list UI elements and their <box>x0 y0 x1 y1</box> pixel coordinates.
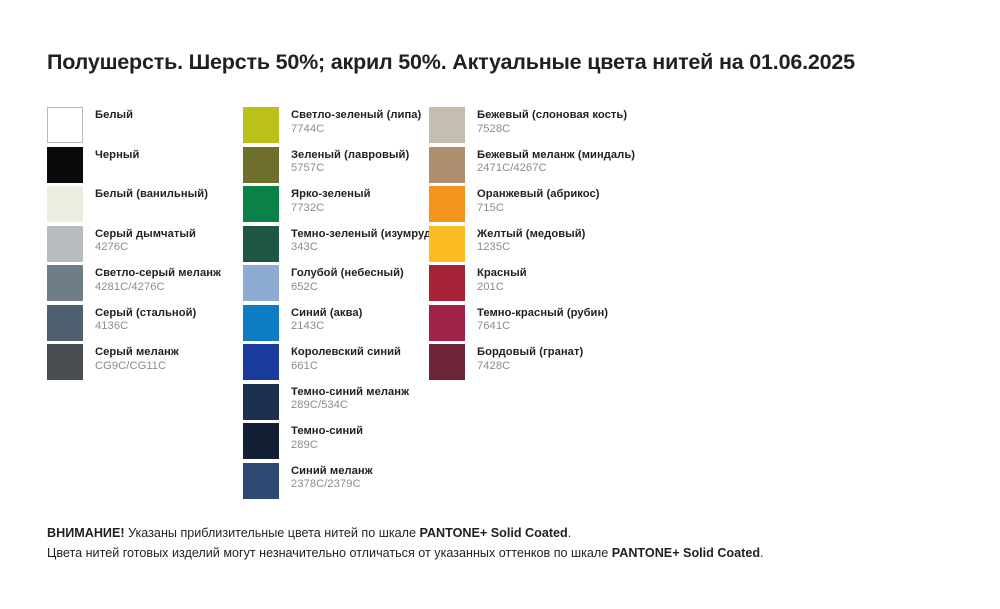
swatch-text: Синий (аква)2143C <box>291 305 362 334</box>
swatch-pantone-code: 4276C <box>95 241 196 255</box>
color-swatch <box>47 265 83 301</box>
swatch-text: Серый (стальной)4136C <box>95 305 196 334</box>
swatch-pantone-code: 4136C <box>95 320 196 334</box>
color-swatch <box>243 423 279 459</box>
footer-brand-1: PANTONE+ Solid Coated <box>419 526 567 540</box>
swatch-text: Бордовый (гранат)7428C <box>477 344 583 373</box>
swatch-name: Темно-зеленый (изумруд) <box>291 228 435 242</box>
swatch-name: Темно-красный (рубин) <box>477 307 608 321</box>
swatch-text: Синий меланж2378C/2379C <box>291 463 373 492</box>
swatch-text: Желтый (медовый)1235C <box>477 226 585 255</box>
swatch-row: Оранжевый (абрикос)715C <box>429 186 729 226</box>
swatch-name: Светло-зеленый (липа) <box>291 109 421 123</box>
swatch-pantone-code: 289C/534C <box>291 399 409 413</box>
footer-line-1: ВНИМАНИЕ! Указаны приблизительные цвета … <box>47 524 764 544</box>
swatch-text: Темно-синий меланж289C/534C <box>291 384 409 413</box>
swatch-column-1: БелыйЧерныйБелый (ванильный)Серый дымчат… <box>47 107 243 384</box>
swatch-text: Ярко-зеленый7732C <box>291 186 371 215</box>
swatch-pantone-code: 652C <box>291 281 404 295</box>
swatch-name: Бордовый (гранат) <box>477 346 583 360</box>
swatch-text: Серый дымчатый4276C <box>95 226 196 255</box>
swatch-pantone-code: 2143C <box>291 320 362 334</box>
color-swatch <box>243 147 279 183</box>
footer-line-2-text: Цвета нитей готовых изделий могут незнач… <box>47 546 612 560</box>
swatch-row: Зеленый (лавровый)5757C <box>243 147 429 187</box>
swatch-name: Красный <box>477 267 527 281</box>
swatch-pantone-code: 7428C <box>477 360 583 374</box>
swatch-pantone-code: 7732C <box>291 202 371 216</box>
swatch-text: Белый <box>95 107 133 123</box>
color-swatch <box>429 344 465 380</box>
color-chart-page: Полушерсть. Шерсть 50%; акрил 50%. Актуа… <box>0 0 1000 609</box>
page-title: Полушерсть. Шерсть 50%; акрил 50%. Актуа… <box>47 50 855 75</box>
swatch-name: Королевский синий <box>291 346 401 360</box>
swatch-name: Оранжевый (абрикос) <box>477 188 600 202</box>
swatch-name: Зеленый (лавровый) <box>291 149 409 163</box>
swatch-pantone-code: 715C <box>477 202 600 216</box>
swatch-text: Голубой (небесный)652C <box>291 265 404 294</box>
color-swatch <box>243 384 279 420</box>
swatch-pantone-code: CG9C/CG11C <box>95 360 179 374</box>
swatch-columns: БелыйЧерныйБелый (ванильный)Серый дымчат… <box>47 107 957 502</box>
swatch-name: Бежевый меланж (миндаль) <box>477 149 635 163</box>
swatch-text: Белый (ванильный) <box>95 186 208 202</box>
color-swatch <box>243 186 279 222</box>
swatch-name: Белый <box>95 109 133 123</box>
color-swatch <box>243 265 279 301</box>
swatch-row: Серый дымчатый4276C <box>47 226 243 266</box>
color-swatch <box>243 107 279 143</box>
swatch-row: Ярко-зеленый7732C <box>243 186 429 226</box>
swatch-name: Темно-синий меланж <box>291 386 409 400</box>
swatch-name: Темно-синий <box>291 425 363 439</box>
color-swatch <box>47 344 83 380</box>
swatch-row: Бежевый меланж (миндаль)2471C/4267C <box>429 147 729 187</box>
color-swatch <box>429 107 465 143</box>
color-swatch <box>243 305 279 341</box>
color-swatch <box>243 344 279 380</box>
swatch-pantone-code: 7641C <box>477 320 608 334</box>
color-swatch <box>47 186 83 222</box>
footer-line-1-text: Указаны приблизительные цвета нитей по ш… <box>125 526 420 540</box>
swatch-pantone-code: 661C <box>291 360 401 374</box>
swatch-row: Темно-зеленый (изумруд)343C <box>243 226 429 266</box>
swatch-pantone-code: 2378C/2379C <box>291 478 373 492</box>
swatch-text: Черный <box>95 147 139 163</box>
color-swatch <box>243 226 279 262</box>
swatch-text: Бежевый меланж (миндаль)2471C/4267C <box>477 147 635 176</box>
swatch-pantone-code: 201C <box>477 281 527 295</box>
color-swatch <box>47 147 83 183</box>
color-swatch <box>429 305 465 341</box>
swatch-row: Черный <box>47 147 243 187</box>
swatch-row: Желтый (медовый)1235C <box>429 226 729 266</box>
swatch-text: Оранжевый (абрикос)715C <box>477 186 600 215</box>
color-swatch <box>47 226 83 262</box>
swatch-text: Королевский синий661C <box>291 344 401 373</box>
footer-brand-2: PANTONE+ Solid Coated <box>612 546 760 560</box>
color-swatch <box>429 147 465 183</box>
swatch-row: Темно-красный (рубин)7641C <box>429 305 729 345</box>
swatch-column-2: Светло-зеленый (липа)7744CЗеленый (лавро… <box>243 107 429 502</box>
color-swatch <box>47 107 83 143</box>
swatch-text: Темно-красный (рубин)7641C <box>477 305 608 334</box>
swatch-pantone-code: 343C <box>291 241 435 255</box>
footer-line-1-end: . <box>568 526 572 540</box>
swatch-name: Черный <box>95 149 139 163</box>
swatch-name: Белый (ванильный) <box>95 188 208 202</box>
swatch-row: Синий (аква)2143C <box>243 305 429 345</box>
swatch-text: Светло-зеленый (липа)7744C <box>291 107 421 136</box>
swatch-pantone-code: 2471C/4267C <box>477 162 635 176</box>
swatch-text: Зеленый (лавровый)5757C <box>291 147 409 176</box>
swatch-row: Серый меланжCG9C/CG11C <box>47 344 243 384</box>
swatch-name: Ярко-зеленый <box>291 188 371 202</box>
swatch-row: Королевский синий661C <box>243 344 429 384</box>
swatch-row: Белый <box>47 107 243 147</box>
swatch-name: Голубой (небесный) <box>291 267 404 281</box>
color-swatch <box>429 226 465 262</box>
swatch-name: Синий (аква) <box>291 307 362 321</box>
swatch-row: Серый (стальной)4136C <box>47 305 243 345</box>
swatch-text: Серый меланжCG9C/CG11C <box>95 344 179 373</box>
footer-attention-label: ВНИМАНИЕ! <box>47 526 125 540</box>
swatch-name: Светло-серый меланж <box>95 267 221 281</box>
swatch-pantone-code: 289C <box>291 439 363 453</box>
swatch-text: Темно-зеленый (изумруд)343C <box>291 226 435 255</box>
swatch-name: Серый дымчатый <box>95 228 196 242</box>
color-swatch <box>243 463 279 499</box>
swatch-row: Светло-серый меланж4281C/4276C <box>47 265 243 305</box>
swatch-row: Светло-зеленый (липа)7744C <box>243 107 429 147</box>
footer-line-2: Цвета нитей готовых изделий могут незнач… <box>47 544 764 564</box>
footer-note: ВНИМАНИЕ! Указаны приблизительные цвета … <box>47 524 764 563</box>
swatch-text: Бежевый (слоновая кость)7528C <box>477 107 627 136</box>
swatch-pantone-code: 5757C <box>291 162 409 176</box>
swatch-row: Бордовый (гранат)7428C <box>429 344 729 384</box>
swatch-row: Голубой (небесный)652C <box>243 265 429 305</box>
swatch-name: Серый меланж <box>95 346 179 360</box>
swatch-pantone-code: 7744C <box>291 123 421 137</box>
swatch-name: Желтый (медовый) <box>477 228 585 242</box>
swatch-text: Темно-синий289C <box>291 423 363 452</box>
swatch-row: Темно-синий меланж289C/534C <box>243 384 429 424</box>
swatch-row: Бежевый (слоновая кость)7528C <box>429 107 729 147</box>
swatch-pantone-code: 7528C <box>477 123 627 137</box>
swatch-text: Красный201C <box>477 265 527 294</box>
swatch-row: Белый (ванильный) <box>47 186 243 226</box>
footer-line-2-end: . <box>760 546 764 560</box>
swatch-column-3: Бежевый (слоновая кость)7528CБежевый мел… <box>429 107 729 384</box>
swatch-row: Темно-синий289C <box>243 423 429 463</box>
swatch-row: Синий меланж2378C/2379C <box>243 463 429 503</box>
color-swatch <box>429 265 465 301</box>
swatch-text: Светло-серый меланж4281C/4276C <box>95 265 221 294</box>
color-swatch <box>429 186 465 222</box>
color-swatch <box>47 305 83 341</box>
swatch-name: Бежевый (слоновая кость) <box>477 109 627 123</box>
swatch-name: Серый (стальной) <box>95 307 196 321</box>
swatch-name: Синий меланж <box>291 465 373 479</box>
swatch-pantone-code: 1235C <box>477 241 585 255</box>
swatch-row: Красный201C <box>429 265 729 305</box>
swatch-pantone-code: 4281C/4276C <box>95 281 221 295</box>
